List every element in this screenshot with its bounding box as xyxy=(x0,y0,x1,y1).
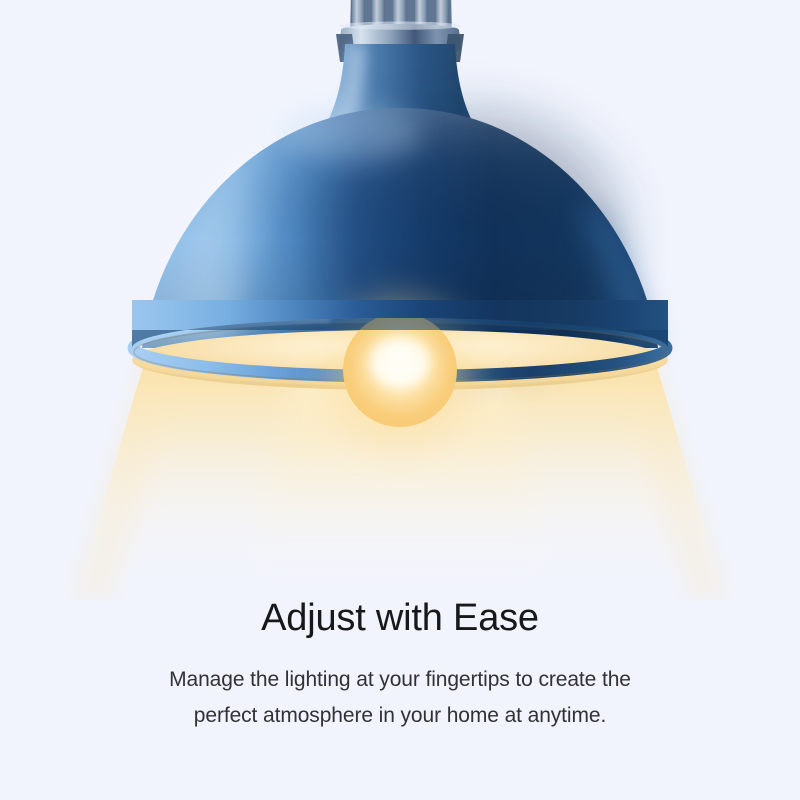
page-title: Adjust with Ease xyxy=(0,596,800,642)
caption-block: Adjust with Ease Manage the lighting at … xyxy=(0,596,800,734)
caption-description: Manage the lighting at your fingertips t… xyxy=(0,662,800,734)
caption-description-line-2: perfect atmosphere in your home at anyti… xyxy=(0,698,800,734)
caption-spacer xyxy=(0,642,800,662)
caption-description-line-1: Manage the lighting at your fingertips t… xyxy=(0,662,800,698)
pendant-lamp-illustration xyxy=(0,0,800,600)
promo-page: Adjust with Ease Manage the lighting at … xyxy=(0,0,800,800)
